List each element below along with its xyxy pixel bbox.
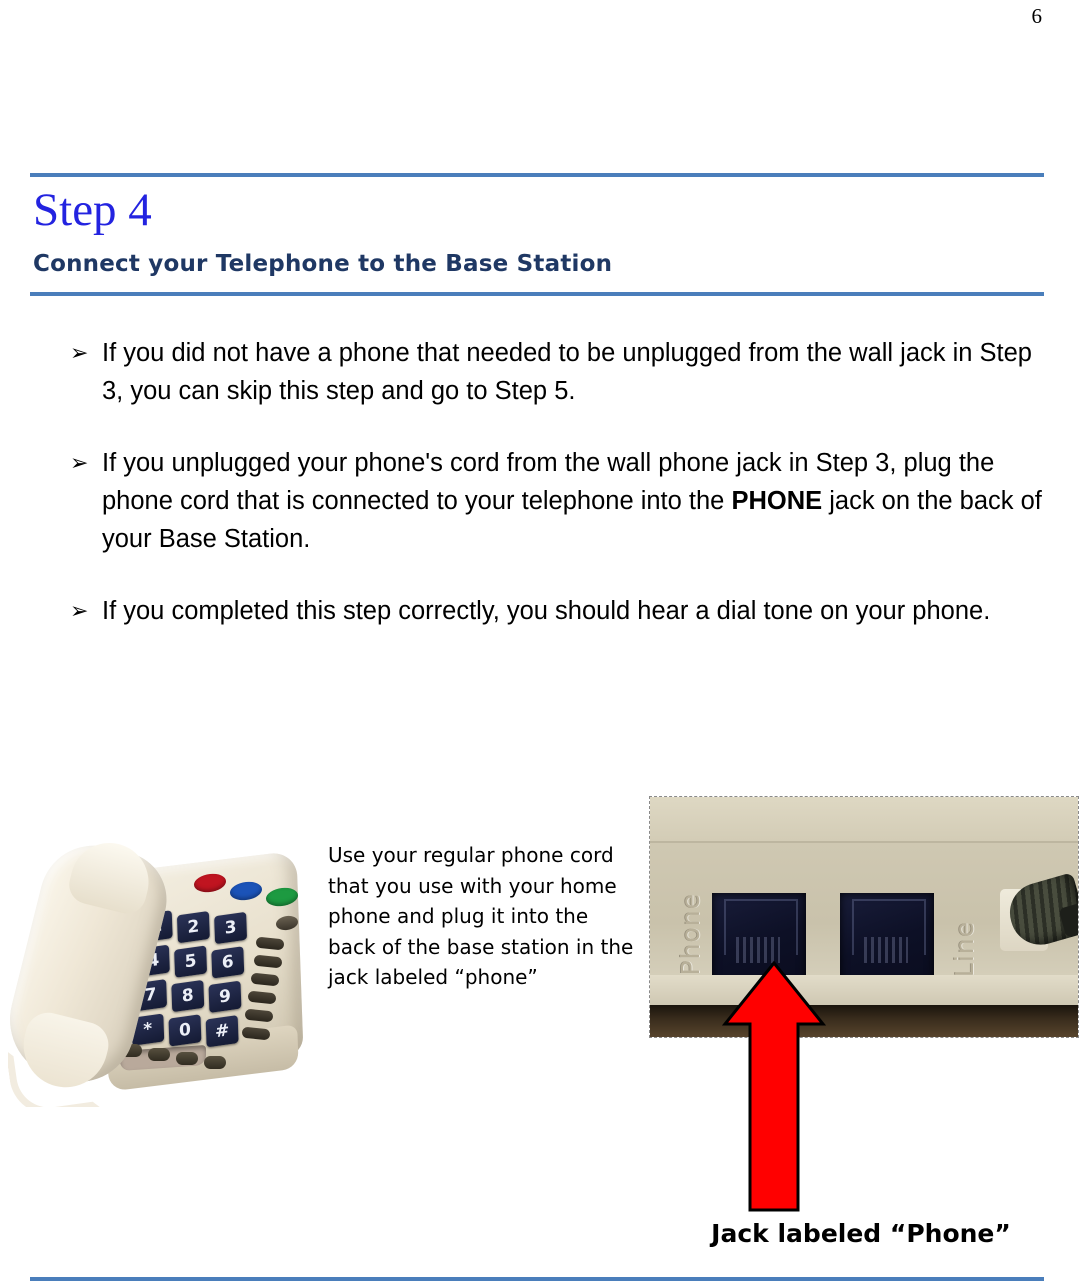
figure-caption-middle: Use your regular phone cord that you use… [328,840,638,993]
telephone-bottom-key [176,1052,198,1065]
telephone-key: 2 [177,911,210,943]
title-rule-top [30,173,1044,177]
list-item-text: If you did not have a phone that needed … [102,334,1060,410]
list-item-text-pre: If you did not have a phone that needed … [102,339,1032,405]
document-page: 6 Step 4 Connect your Telephone to the B… [0,0,1082,1287]
list-item-text: If you completed this step correctly, yo… [102,592,1060,630]
list-item-text: If you unplugged your phone's cord from … [102,444,1060,558]
list-item: ➢ If you unplugged your phone's cord fro… [70,444,1060,558]
bullet-arrow-icon: ➢ [70,593,88,631]
jack-label-phone: Phone [676,893,705,975]
list-item: ➢ If you did not have a phone that neede… [70,334,1060,410]
base-station-jacks-photo: Phone Line [650,797,1078,1037]
telephone-key: 6 [211,946,244,978]
title-rule-bottom [30,292,1044,296]
telephone-key: 5 [174,945,207,977]
desk-surface [650,1005,1078,1037]
telephone-bottom-key [204,1056,226,1069]
telephone-key: 3 [214,912,247,944]
jack-label-line: Line [950,921,979,977]
base-station-top-face [650,797,1078,841]
page-title: Step 4 [33,185,152,235]
instruction-list: ➢ If you did not have a phone that neede… [70,334,1060,630]
bullet-arrow-icon: ➢ [70,445,88,483]
list-item: ➢ If you completed this step correctly, … [70,592,1060,630]
telephone-bottom-key [148,1048,170,1061]
telephone-photo: 1 2 3 4 5 6 7 8 9 * 0 # [8,826,313,1107]
telephone-cord [8,1038,100,1107]
list-item-text-pre: If you completed this step correctly, yo… [102,597,990,625]
figure-caption-bottom: Jack labeled “Phone” [646,1218,1076,1250]
telephone-key: 9 [208,981,241,1013]
bullet-arrow-icon: ➢ [70,335,88,373]
page-number: 6 [1032,6,1043,27]
page-subtitle: Connect your Telephone to the Base Stati… [33,250,612,278]
line-jack-pins [864,937,908,963]
list-item-emphasis: PHONE [731,487,822,515]
telephone-key: 0 [168,1014,201,1046]
base-station-bottom-lip [650,975,1078,1005]
telephone-key: 8 [171,980,204,1012]
up-arrow-icon [722,960,826,1212]
base-station-rear-panel: Phone Line [650,841,1078,989]
footer-rule [30,1277,1044,1281]
telephone-key: # [206,1015,239,1047]
